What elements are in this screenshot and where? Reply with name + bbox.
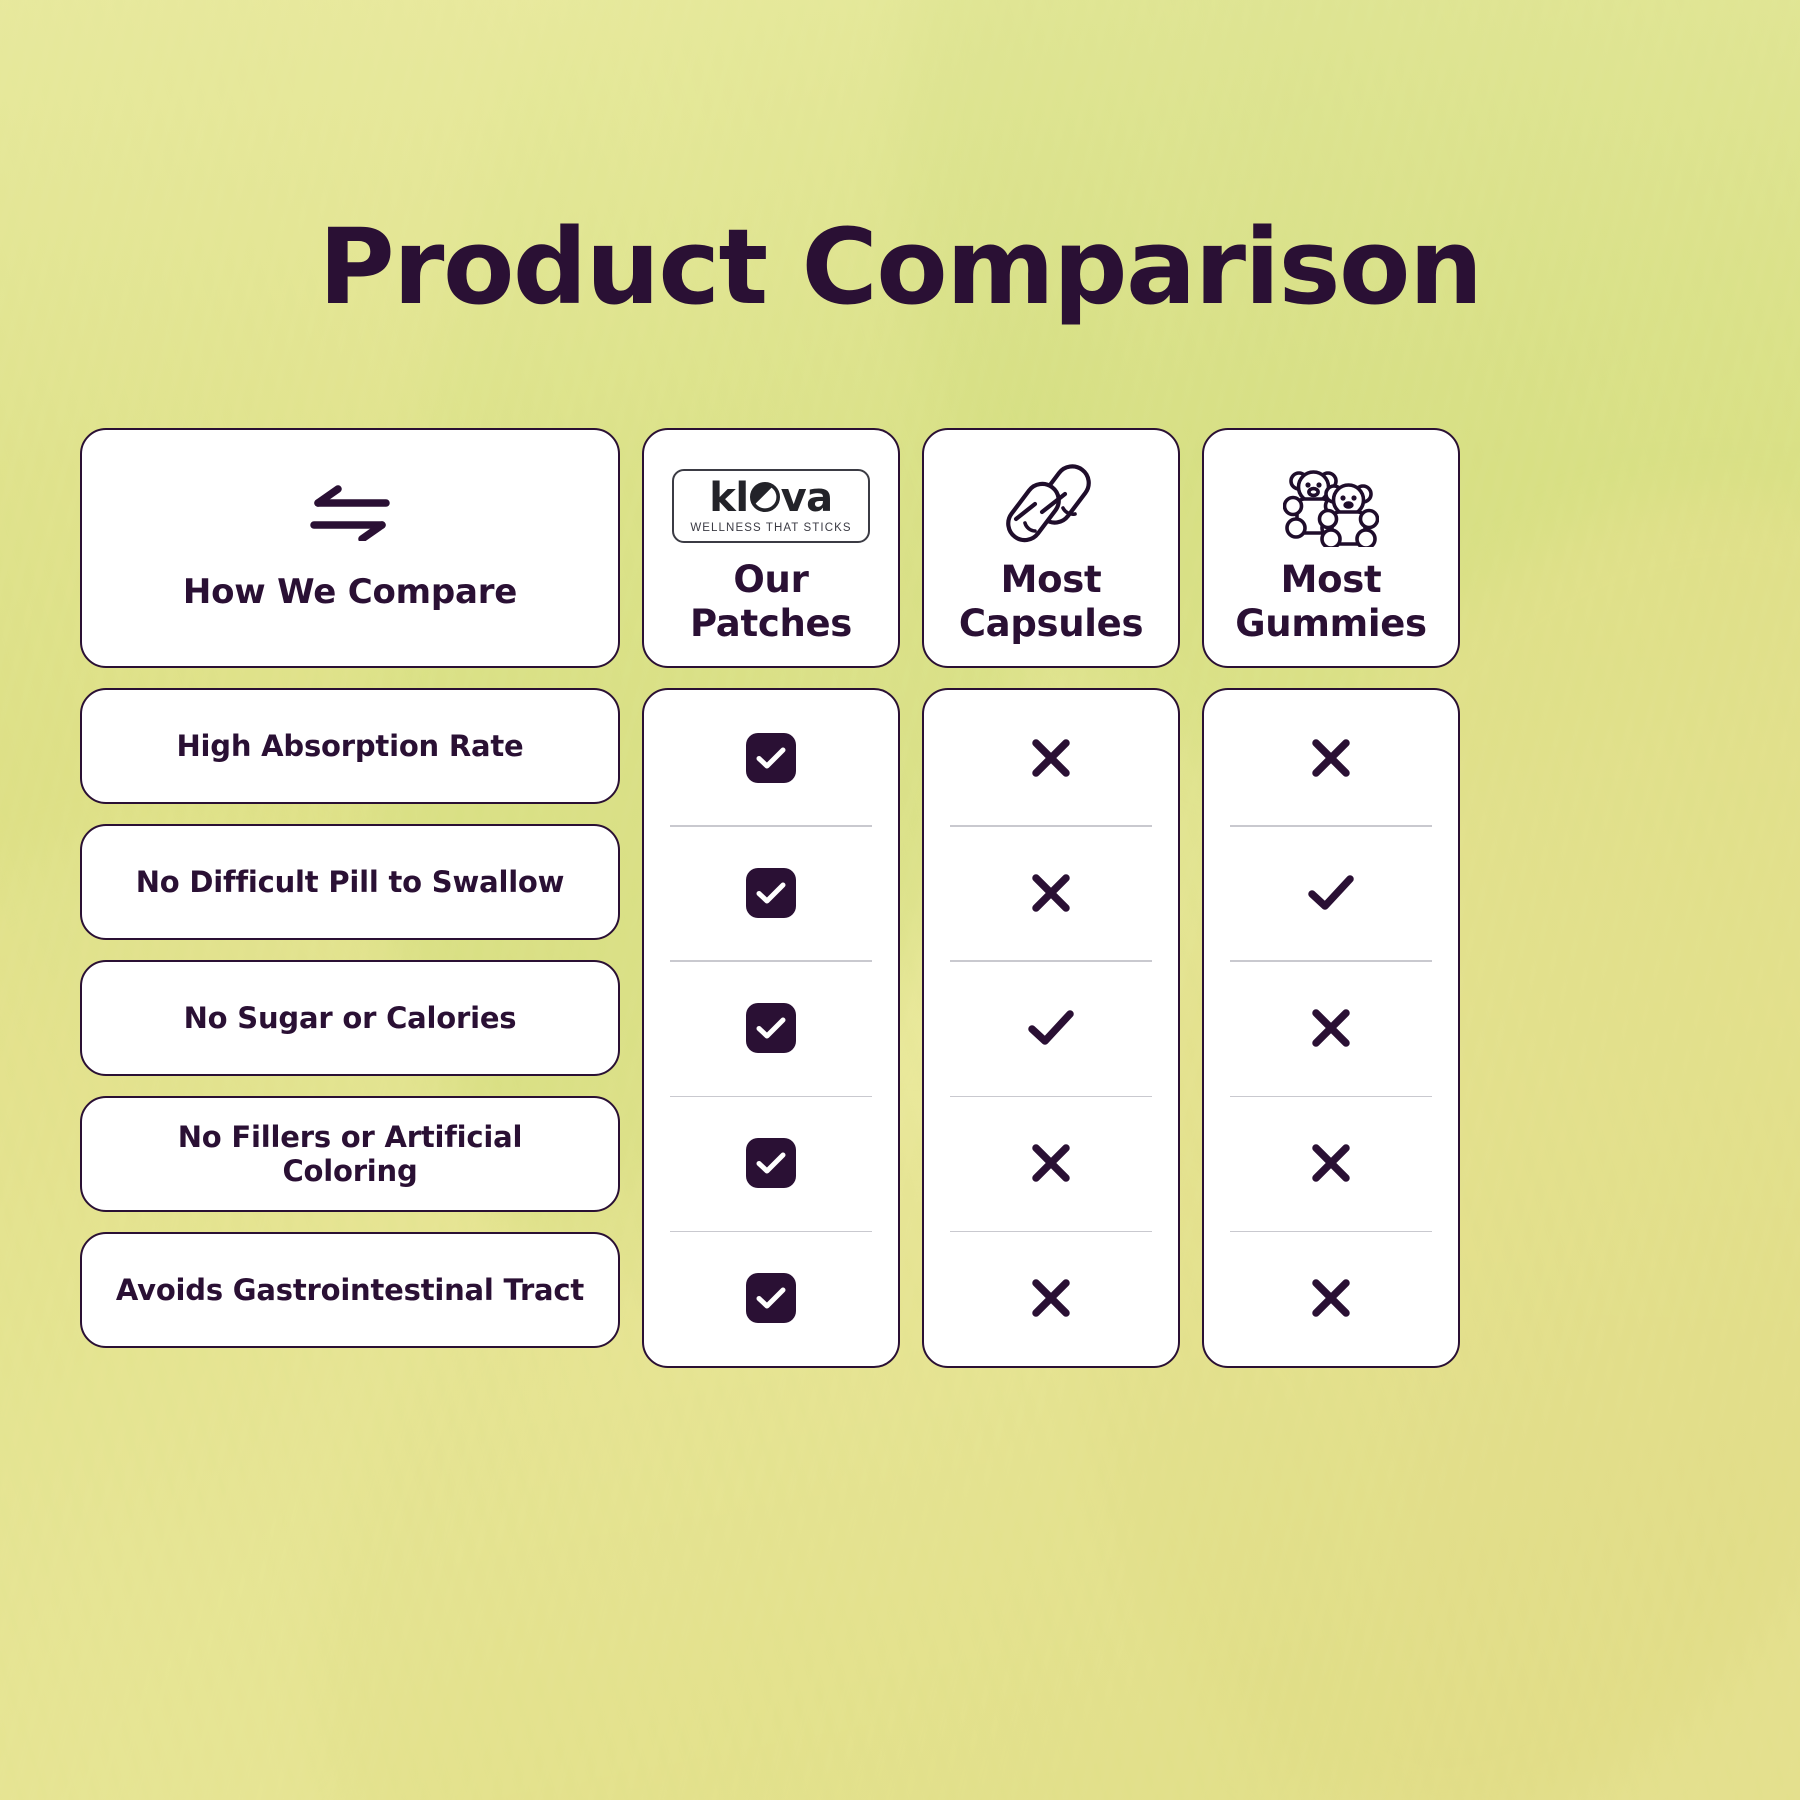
feature-label: No Difficult Pill to Swallow	[136, 865, 565, 899]
klova-logo-tagline: WELLNESS THAT STICKS	[690, 522, 851, 534]
capsules-icon	[1003, 461, 1099, 552]
klova-logo: kl va WELLNESS THAT STICKS	[672, 469, 869, 543]
cell-gummies-1	[1204, 825, 1458, 960]
check-mark-filled-icon	[746, 1273, 796, 1323]
cross-mark-icon	[1310, 1007, 1352, 1049]
comparison-table: How We Compare kl va	[80, 428, 1720, 1368]
feature-label: High Absorption Rate	[176, 729, 523, 763]
page-title: Product Comparison	[0, 206, 1800, 328]
column-capsules	[922, 688, 1180, 1368]
cell-patches-0	[644, 690, 898, 825]
cross-mark-icon	[1310, 737, 1352, 779]
header-cell-capsules: Most Capsules	[922, 428, 1180, 668]
cross-mark-icon	[1030, 737, 1072, 779]
header-capsules-label: Most Capsules	[959, 558, 1143, 645]
header-cell-feature: How We Compare	[80, 428, 620, 668]
feature-label: No Sugar or Calories	[184, 1001, 517, 1035]
cross-mark-icon	[1310, 1142, 1352, 1184]
cell-patches-4	[644, 1231, 898, 1366]
check-mark-filled-icon	[746, 733, 796, 783]
cell-gummies-4	[1204, 1231, 1458, 1366]
cell-gummies-0	[1204, 690, 1458, 825]
klova-logo-va: va	[781, 479, 833, 517]
cell-capsules-3	[924, 1096, 1178, 1231]
cell-capsules-0	[924, 690, 1178, 825]
check-mark-filled-icon	[746, 1003, 796, 1053]
table-body: High Absorption Rate No Difficult Pill t…	[80, 688, 1720, 1368]
check-mark-icon	[1307, 874, 1355, 912]
feature-row-2: No Sugar or Calories	[80, 960, 620, 1076]
column-gummies	[1202, 688, 1460, 1368]
cross-mark-icon	[1030, 1142, 1072, 1184]
cross-mark-icon	[1310, 1277, 1352, 1319]
cell-capsules-2	[924, 960, 1178, 1095]
klova-logo-wordmark: kl va	[709, 479, 832, 517]
cell-gummies-2	[1204, 960, 1458, 1095]
cell-patches-2	[644, 960, 898, 1095]
cell-patches-3	[644, 1096, 898, 1231]
cell-capsules-1	[924, 825, 1178, 960]
cell-gummies-3	[1204, 1096, 1458, 1231]
feature-label-column: High Absorption Rate No Difficult Pill t…	[80, 688, 620, 1348]
check-mark-filled-icon	[746, 868, 796, 918]
feature-row-1: No Difficult Pill to Swallow	[80, 824, 620, 940]
feature-label: Avoids Gastrointestinal Tract	[116, 1273, 584, 1307]
klova-logo-o-glyph	[750, 481, 780, 511]
header-cell-gummies: Most Gummies	[1202, 428, 1460, 668]
header-feature-label: How We Compare	[183, 572, 517, 612]
gummy-bears-icon	[1283, 461, 1379, 552]
compare-arrows-icon	[308, 485, 392, 546]
cell-capsules-4	[924, 1231, 1178, 1366]
cell-patches-1	[644, 825, 898, 960]
header-cell-patches: kl va WELLNESS THAT STICKS	[642, 428, 900, 668]
feature-row-4: Avoids Gastrointestinal Tract	[80, 1232, 620, 1348]
feature-label: No Fillers or Artificial Coloring	[106, 1120, 594, 1188]
table-header-row: How We Compare kl va	[80, 428, 1720, 668]
feature-row-0: High Absorption Rate	[80, 688, 620, 804]
check-mark-icon	[1027, 1009, 1075, 1047]
header-gummies-label: Most Gummies	[1235, 558, 1427, 645]
cross-mark-icon	[1030, 1277, 1072, 1319]
klova-logo-kl: kl	[709, 479, 748, 517]
feature-row-3: No Fillers or Artificial Coloring	[80, 1096, 620, 1212]
check-mark-filled-icon	[746, 1138, 796, 1188]
header-patches-label: Our Patches	[690, 558, 852, 645]
cross-mark-icon	[1030, 872, 1072, 914]
column-patches	[642, 688, 900, 1368]
